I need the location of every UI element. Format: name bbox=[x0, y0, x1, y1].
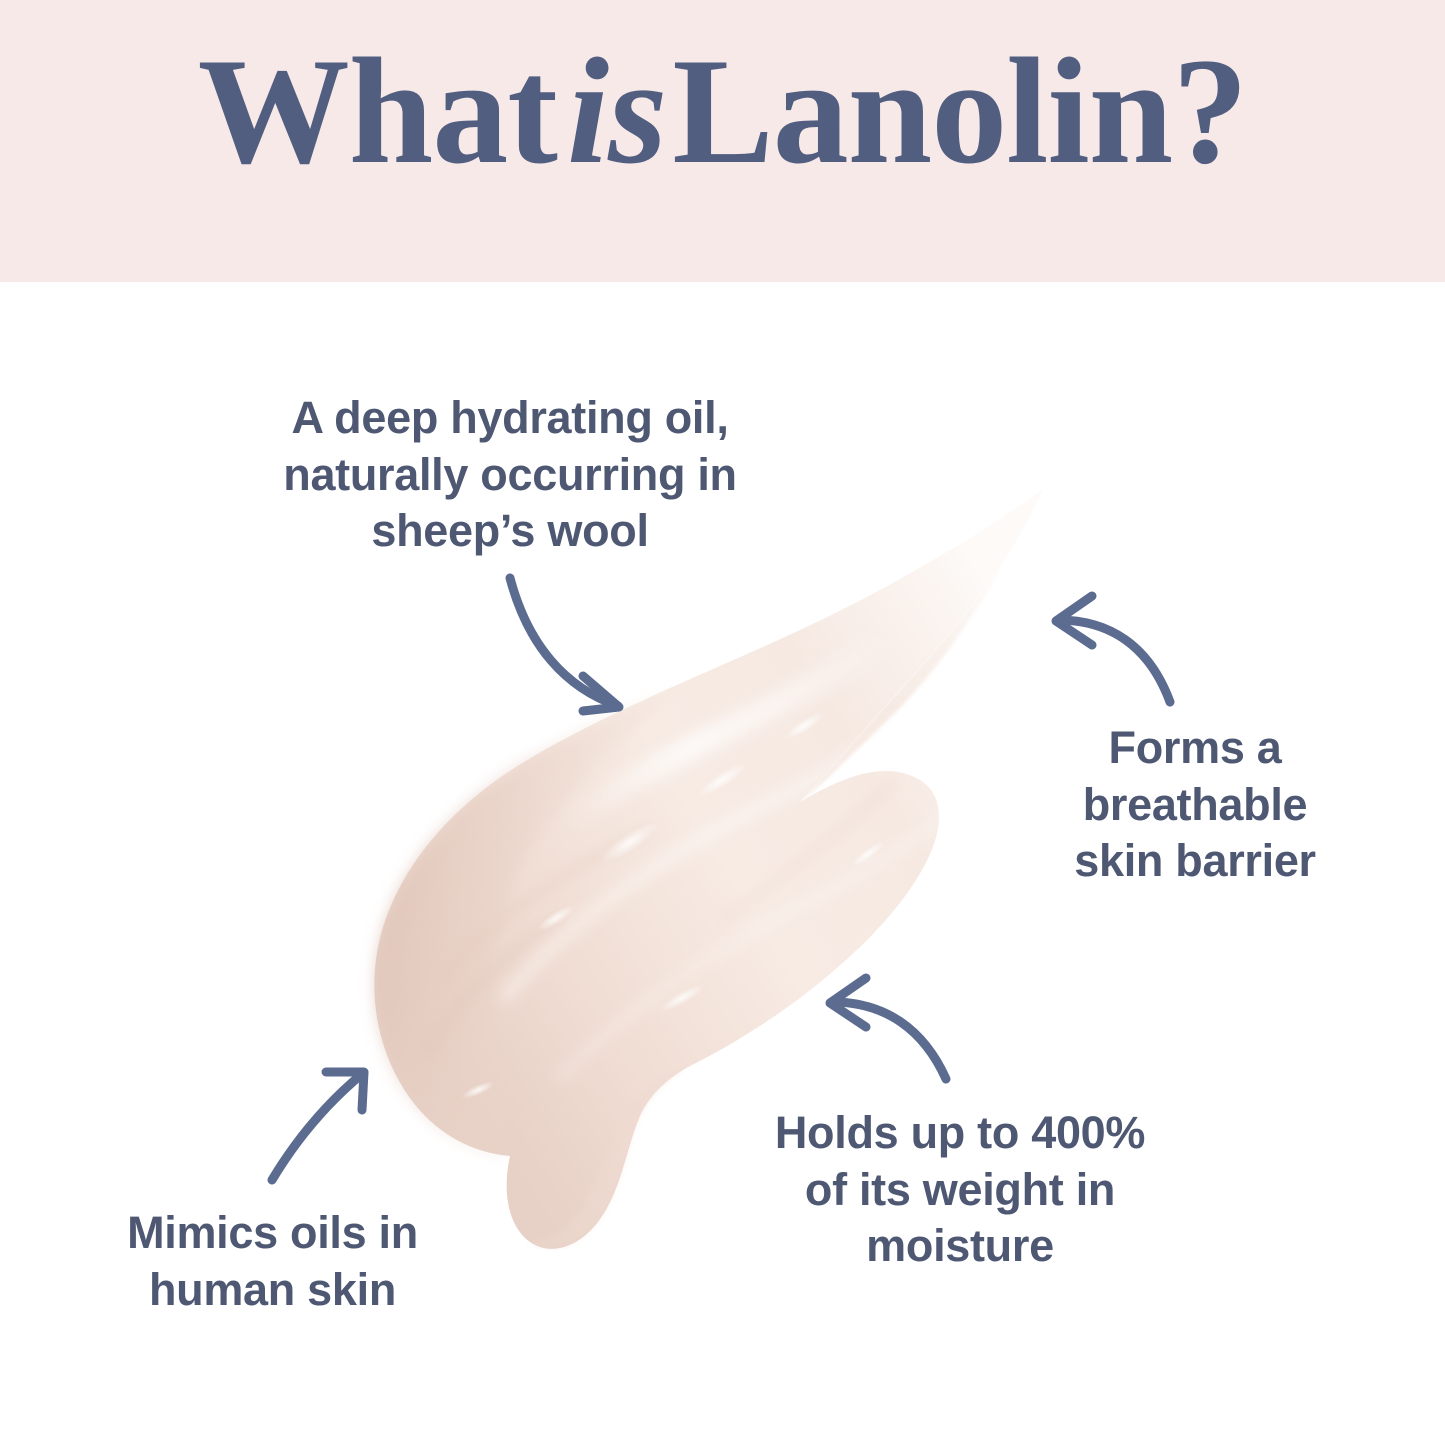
page-title-word-what: What bbox=[198, 35, 557, 187]
page-title-word-is: is bbox=[557, 35, 672, 187]
callout-hydrating-oil: A deep hydrating oil, naturally occurrin… bbox=[200, 390, 820, 560]
header-band: WhatisLanolin? bbox=[0, 0, 1445, 282]
callout-mimics-skin-oils: Mimics oils in human skin bbox=[75, 1205, 470, 1318]
lanolin-infographic: WhatisLanolin? bbox=[0, 0, 1445, 1445]
callout-skin-barrier: Forms a breathable skin barrier bbox=[1040, 720, 1350, 890]
page-title: WhatisLanolin? bbox=[0, 0, 1445, 282]
page-title-word-lanolin: Lanolin? bbox=[672, 35, 1247, 187]
callout-moisture-retention: Holds up to 400% of its weight in moistu… bbox=[700, 1105, 1220, 1275]
